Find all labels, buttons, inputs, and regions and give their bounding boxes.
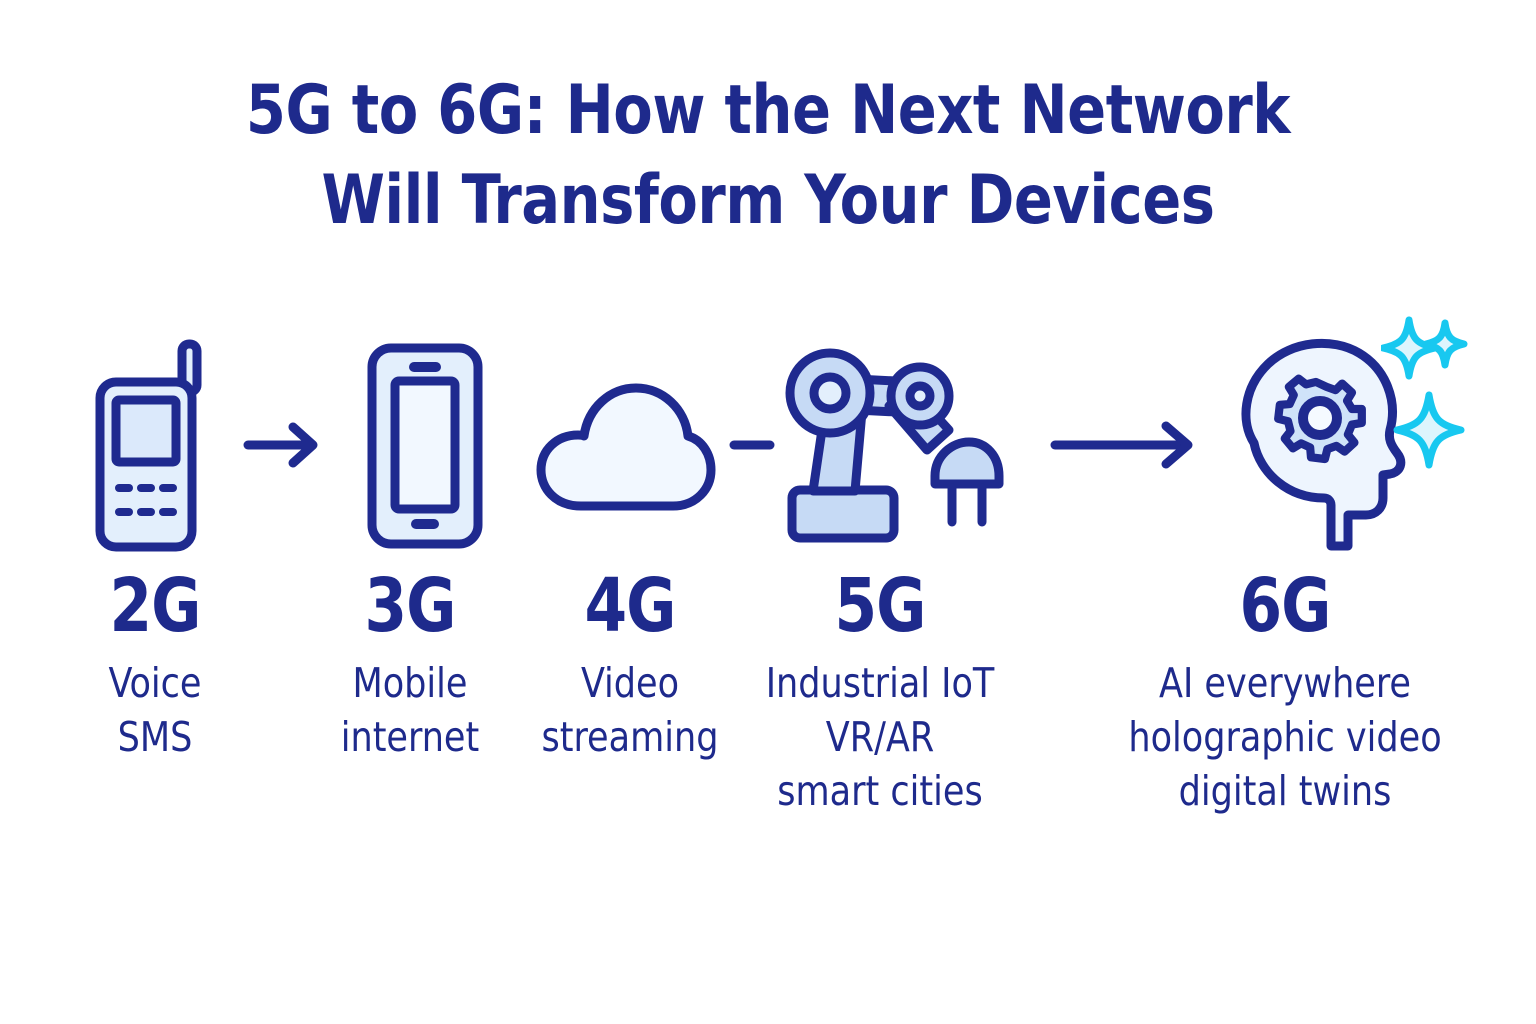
icon-slot-2g [55,320,255,570]
caption-line: Industrial IoT [728,656,1032,710]
caption-3g: Mobile internet [291,656,529,764]
sparkles-group [1366,320,1486,570]
sparkle-cluster-icon [1381,305,1471,525]
caption-5g: Industrial IoT VR/AR smart cities [728,656,1032,818]
caption-line: internet [291,710,529,764]
gen-label-6g: 6G [1087,566,1483,646]
generation-column-3g: 3G Mobile internet [285,566,535,764]
caption-line: Video [511,656,749,710]
generation-column-2g: 2G Voice SMS [30,566,280,764]
cloud-icon [533,378,718,513]
caption-2g: Voice SMS [36,656,274,764]
caption-6g: AI everywhere holographic video digital … [1081,656,1490,818]
caption-line: VR/AR [728,710,1032,764]
caption-line: smart cities [728,764,1032,818]
feature-phone-icon [80,338,230,553]
caption-line: Voice [36,656,274,710]
arrow-right-icon [1050,420,1200,470]
title-line-2: Will Transform Your Devices [46,156,1490,246]
generation-columns: 2G Voice SMS 3G Mobile internet 4G Video… [0,566,1536,866]
robot-arm-icon [777,338,1007,553]
connector-arrow-5g-6g [1030,320,1220,570]
icon-slot-4g [520,320,730,570]
generation-column-5g: 5G Industrial IoT VR/AR smart cities [720,566,1040,818]
title-line-1: 5G to 6G: How the Next Network [46,66,1490,156]
infographic-canvas: 5G to 6G: How the Next Network Will Tran… [0,0,1536,1024]
caption-line: streaming [511,710,749,764]
smartphone-icon [360,338,490,553]
caption-line: digital twins [1081,764,1490,818]
caption-line: SMS [36,710,274,764]
gen-label-3g: 3G [295,566,525,646]
icon-slot-5g [762,320,1022,570]
icon-slot-3g [330,320,520,570]
caption-4g: Video streaming [511,656,749,764]
gen-label-2g: 2G [40,566,270,646]
arrow-right-icon [243,422,323,468]
generation-column-4g: 4G Video streaming [505,566,755,764]
caption-line: AI everywhere [1081,656,1490,710]
page-title: 5G to 6G: How the Next Network Will Tran… [0,66,1536,246]
gen-label-4g: 4G [515,566,745,646]
generation-column-6g: 6G AI everywhere holographic video digit… [1070,566,1500,818]
icon-row [0,320,1536,570]
caption-line: Mobile [291,656,529,710]
caption-line: holographic video [1081,710,1490,764]
connector-arrow-2g-3g [228,320,338,570]
gen-label-5g: 5G [733,566,1027,646]
